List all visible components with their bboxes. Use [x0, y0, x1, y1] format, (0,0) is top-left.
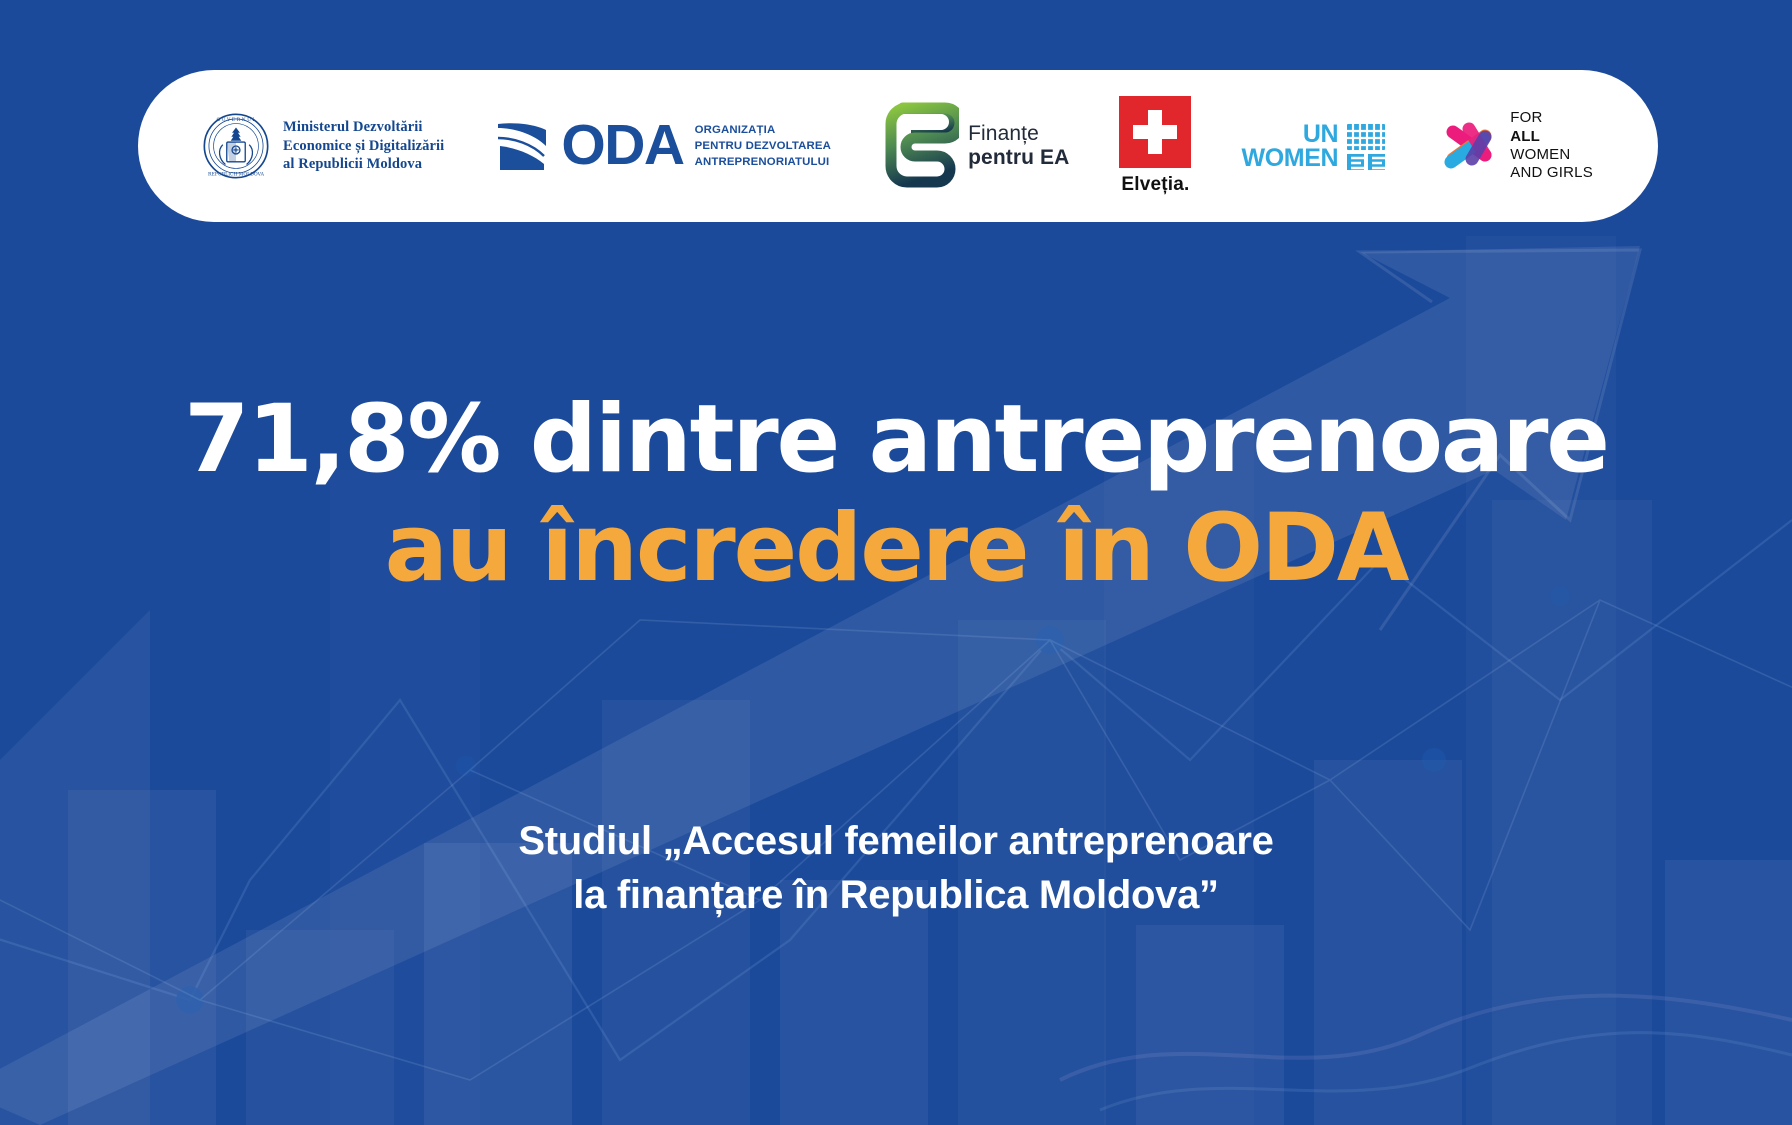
un-women-wordmark: UN WOMEN	[1242, 122, 1339, 170]
partner-logo-bar: G U V E R N U L REPUBLICII MOLDOVA Minis…	[138, 70, 1658, 222]
un-women-emblem-icon	[1343, 120, 1389, 172]
un-women-line-1: UN	[1242, 122, 1339, 146]
svg-text:REPUBLICII MOLDOVA: REPUBLICII MOLDOVA	[208, 172, 265, 178]
for-all-line-1: FOR ALL	[1510, 109, 1593, 146]
oda-bridge-icon	[494, 118, 550, 174]
oda-wordmark: ODA	[561, 120, 683, 171]
logo-switzerland: Elveția.	[1119, 96, 1191, 196]
logo-un-women: UN WOMEN	[1242, 120, 1390, 172]
finante-f-mark-icon	[881, 102, 959, 190]
finante-line-2: pentru EA	[968, 146, 1069, 170]
logo-ministry-moldova: G U V E R N U L REPUBLICII MOLDOVA Minis…	[203, 113, 444, 179]
switzerland-label: Elveția.	[1121, 174, 1189, 196]
oda-sub-3: ANTREPRENORIATULUI	[695, 154, 831, 170]
headline-statistic: 71,8% dintre antreprenoare	[0, 392, 1792, 488]
svg-text:G U V E R N U L: G U V E R N U L	[217, 117, 256, 123]
swiss-flag-icon	[1119, 96, 1191, 168]
subtitle-block: Studiul „Accesul femeilor antreprenoare …	[0, 815, 1792, 922]
for-all-bold: ALL	[1510, 128, 1540, 145]
ministry-line-1: Ministerul Dezvoltării	[283, 118, 444, 137]
moldova-state-seal-icon: G U V E R N U L REPUBLICII MOLDOVA	[203, 113, 269, 179]
poster-canvas: G U V E R N U L REPUBLICII MOLDOVA Minis…	[0, 0, 1792, 1125]
for-all-wordmark: FOR ALL WOMEN AND GIRLS	[1510, 109, 1593, 182]
logo-finante-pentru-ea: Finanțe pentru EA	[881, 102, 1069, 190]
un-women-line-2: WOMEN	[1242, 146, 1339, 170]
for-all-women-pinwheel-icon	[1439, 115, 1501, 177]
for-all-line-3: AND GIRLS	[1510, 164, 1593, 182]
headline-accent: au încredere în ODA	[0, 498, 1792, 600]
subtitle-line-2: la finanțare în Republica Moldova”	[0, 869, 1792, 923]
ministry-name: Ministerul Dezvoltării Economice și Digi…	[283, 118, 444, 175]
ministry-line-3: al Republicii Moldova	[283, 155, 444, 174]
for-all-line-2: WOMEN	[1510, 146, 1593, 164]
finante-line-1: Finanțe	[968, 122, 1069, 146]
headline-block: 71,8% dintre antreprenoare au încredere …	[0, 392, 1792, 599]
oda-subtitle: ORGANIZAȚIA PENTRU DEZVOLTAREA ANTREPREN…	[695, 122, 831, 171]
for-all-prefix: FOR	[1510, 109, 1593, 127]
logo-oda: ODA ORGANIZAȚIA PENTRU DEZVOLTAREA ANTRE…	[494, 118, 831, 174]
oda-sub-1: ORGANIZAȚIA	[695, 122, 831, 138]
ministry-line-2: Economice și Digitalizării	[283, 137, 444, 156]
subtitle-line-1: Studiul „Accesul femeilor antreprenoare	[0, 815, 1792, 869]
logo-for-all-women-and-girls: FOR ALL WOMEN AND GIRLS	[1439, 109, 1593, 182]
oda-sub-2: PENTRU DEZVOLTAREA	[695, 138, 831, 154]
finante-wordmark: Finanțe pentru EA	[968, 122, 1069, 170]
